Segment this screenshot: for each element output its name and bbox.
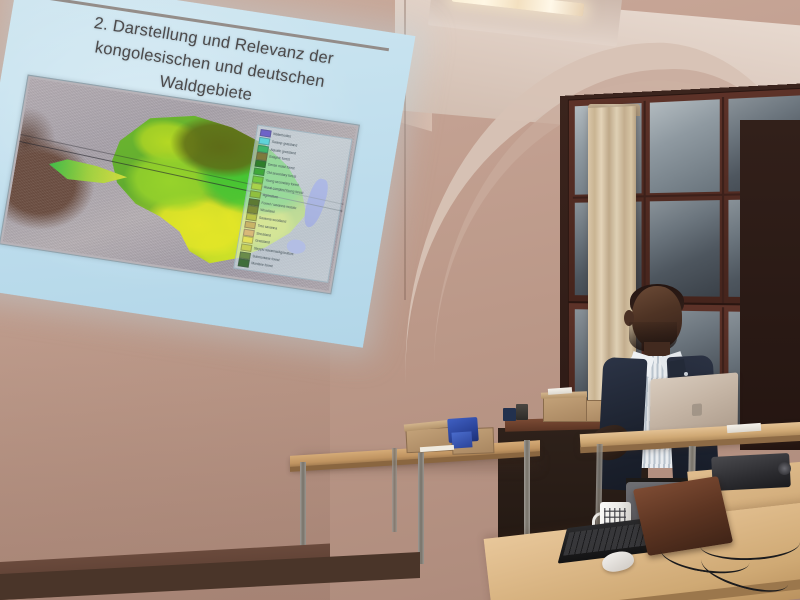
room-scene: 2. Darstellung und Relevanz der kongoles… bbox=[0, 0, 800, 600]
table-leg bbox=[418, 452, 424, 564]
presenter-jacket-left bbox=[597, 357, 648, 491]
legend-label: Montane forest bbox=[251, 263, 273, 269]
right-wall-dark bbox=[740, 120, 800, 450]
table-leg bbox=[392, 448, 397, 532]
legend-label: Woodland bbox=[260, 209, 275, 214]
window-mullion bbox=[644, 101, 646, 302]
window-pane bbox=[650, 99, 720, 193]
projected-slide: 2. Darstellung und Relevanz der kongoles… bbox=[0, 0, 415, 348]
table-leg bbox=[524, 440, 530, 538]
legend-label: Agriculture bbox=[262, 194, 278, 199]
window-pane bbox=[650, 200, 720, 297]
tin-can bbox=[503, 408, 516, 421]
projector-lens-icon bbox=[778, 462, 791, 475]
blue-crate-front bbox=[451, 431, 472, 448]
legend-label: Grassland bbox=[255, 240, 270, 245]
legend-swatch bbox=[238, 259, 250, 268]
window-mullion bbox=[722, 97, 724, 303]
legend-label: Shrubland bbox=[256, 232, 271, 237]
laptop-logo bbox=[692, 403, 702, 416]
cardboard-box bbox=[543, 396, 587, 422]
tin-can bbox=[516, 404, 528, 420]
